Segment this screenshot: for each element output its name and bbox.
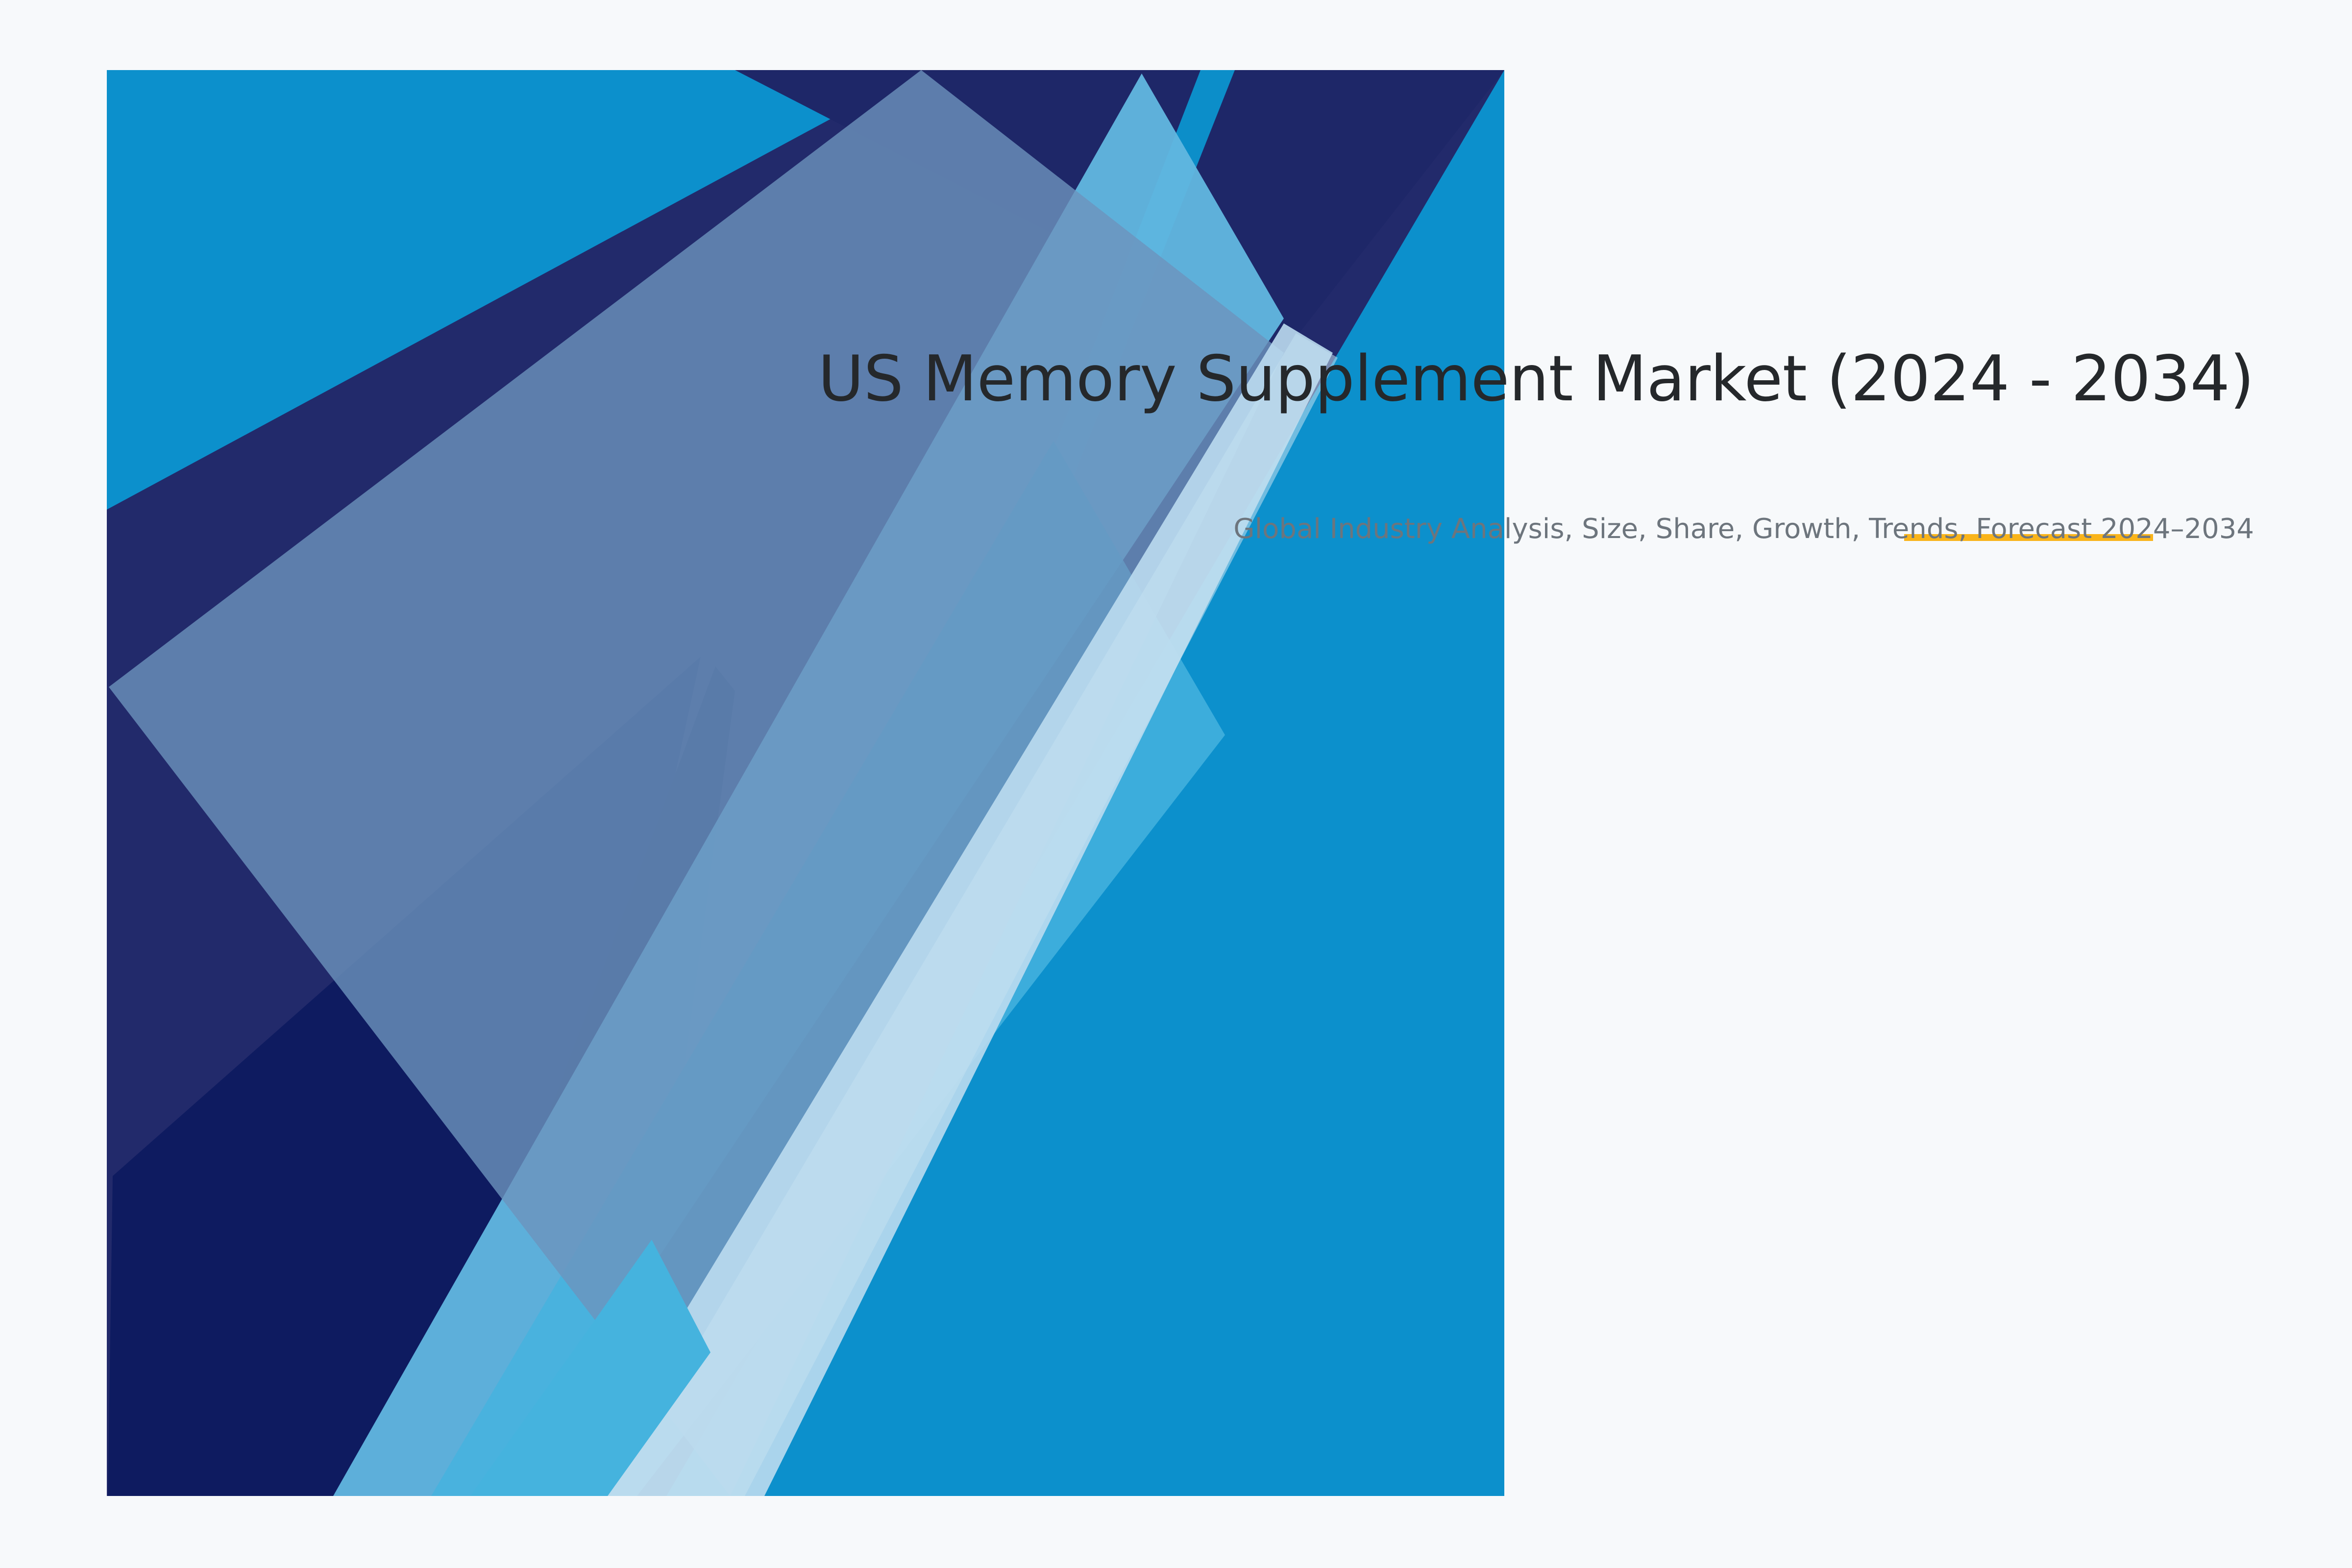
artwork-shapes: [107, 70, 1504, 1496]
shape-navy-wedge: [107, 70, 1504, 1496]
shape-light-blue-band: [333, 73, 1284, 1496]
shape-navy-top-right: [735, 70, 1504, 353]
abstract-geometric-artwork: [0, 0, 2352, 1568]
page-subtitle: Global Industry Analysis, Size, Share, G…: [735, 416, 2254, 547]
shape-cyan-band-lower: [431, 441, 1225, 1496]
cover-text-block: US Memory Supplement Market (2024 - 2034…: [735, 343, 2254, 547]
report-cover-slide: US Memory Supplement Market (2024 - 2034…: [0, 0, 2352, 1568]
shape-cyan-base: [107, 70, 1504, 1496]
shape-slate-blue-overlay: [109, 70, 1284, 1496]
page-title: US Memory Supplement Market (2024 - 2034…: [735, 343, 2254, 416]
shape-deep-navy-block: [407, 666, 735, 1496]
shape-cyan-tip-bottom: [470, 1240, 710, 1496]
artwork-svg: [0, 0, 2352, 1568]
shape-deep-navy-spear: [108, 657, 701, 1496]
